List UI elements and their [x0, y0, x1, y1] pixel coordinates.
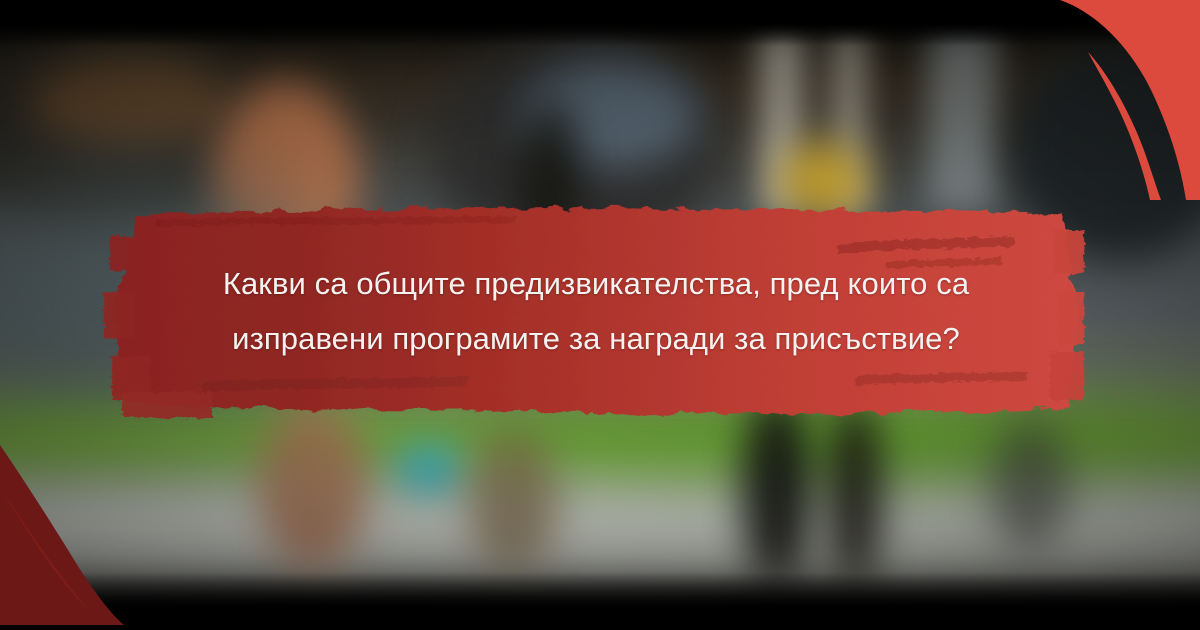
letterbox-bottom — [0, 572, 1200, 630]
quote-card: Какви са общите предизвикателства, пред … — [0, 0, 1200, 630]
headline-line-1: Какви са общите предизвикателства, пред … — [223, 256, 969, 311]
headline: Какви са общите предизвикателства, пред … — [96, 196, 1096, 426]
letterbox-top — [0, 0, 1200, 46]
headline-line-2: изправени програмите за награди за присъ… — [232, 311, 960, 366]
